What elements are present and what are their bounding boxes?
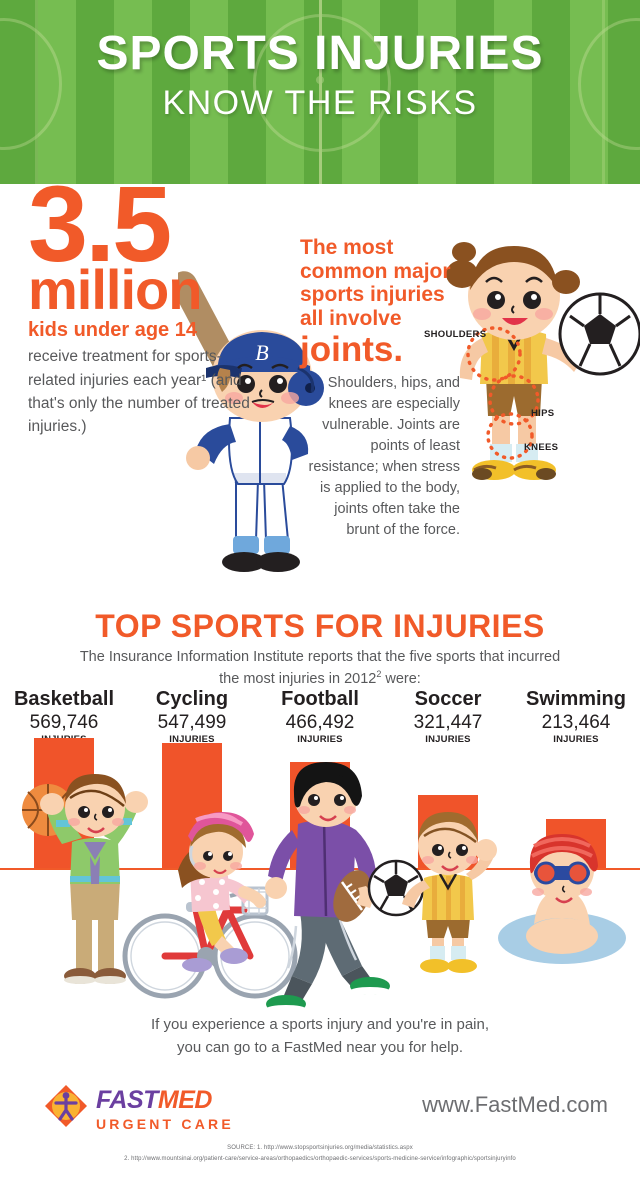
stat-highlight: kids under age 14: [28, 319, 258, 341]
joint-label-hips: HIPS: [531, 408, 554, 419]
stat-number: 3.5: [28, 178, 258, 271]
sport-name: Swimming: [512, 688, 640, 710]
sport-column: Soccer321,447INJURIES: [384, 688, 512, 745]
sources-footnote: SOURCE: 1. http://www.stopsportsinjuries…: [0, 1143, 640, 1166]
basketball-player-illustration: [22, 774, 148, 984]
sport-column: Football466,492INJURIES: [256, 688, 384, 745]
athletes-illustration-row: [0, 760, 640, 1010]
joint-label-knees: KNEES: [524, 442, 558, 453]
sport-name: Football: [256, 688, 384, 710]
section-subtitle-line2b: were:: [381, 671, 421, 687]
sport-name: Soccer: [384, 688, 512, 710]
soccer-girl-illustration: [430, 238, 640, 500]
closing-text: If you experience a sports injury and yo…: [70, 1014, 570, 1059]
sport-column: Swimming213,464INJURIES: [512, 688, 640, 745]
stat-block: 3.5 million kids under age 14 receive tr…: [28, 178, 258, 438]
joints-body-text: Shoulders, hips, and knees are especiall…: [300, 373, 460, 541]
soccer-boy-illustration: [369, 812, 497, 973]
closing-line-2: you can go to a FastMed near you for hel…: [70, 1037, 570, 1060]
logo-wordmark: FASTMED: [96, 1086, 234, 1115]
joint-label-shoulders: SHOULDERS: [424, 329, 486, 340]
website-url[interactable]: www.FastMed.com: [422, 1092, 608, 1118]
fastmed-logo[interactable]: FASTMED URGENT CARE: [44, 1082, 294, 1130]
sports-columns: Basketball569,746INJURIESCycling547,499I…: [0, 688, 640, 745]
header-banner: SPORTS INJURIES KNOW THE RISKS: [0, 0, 640, 184]
page-title: SPORTS INJURIES: [0, 30, 640, 78]
closing-line-1: If you experience a sports injury and yo…: [70, 1014, 570, 1037]
stat-unit: million: [28, 265, 258, 315]
fastmed-logo-mark-icon: [44, 1084, 88, 1128]
joints-headline: The most common major sports injuries al…: [300, 236, 460, 330]
fastmed-logo-text: FASTMED URGENT CARE: [96, 1086, 234, 1132]
cycling-girl-illustration: [125, 812, 295, 996]
swimmer-illustration: [498, 834, 626, 964]
sport-injury-count: 466,492: [256, 711, 384, 735]
page-subtitle: KNOW THE RISKS: [0, 86, 640, 120]
joints-block: The most common major sports injuries al…: [300, 236, 460, 541]
logo-tagline: URGENT CARE: [96, 1116, 234, 1132]
stat-body-text: receive treatment for sports-related inj…: [28, 345, 258, 438]
section-title: TOP SPORTS FOR INJURIES: [0, 608, 640, 645]
title-group: SPORTS INJURIES KNOW THE RISKS: [0, 30, 640, 120]
sport-injury-count: 569,746: [0, 711, 128, 735]
sport-injury-count: 547,499: [128, 711, 256, 735]
sport-injury-count: 213,464: [512, 711, 640, 735]
logo-fast-text: FAST: [96, 1086, 158, 1114]
sport-column: Basketball569,746INJURIES: [0, 688, 128, 745]
source-line-1: SOURCE: 1. http://www.stopsportsinjuries…: [0, 1143, 640, 1154]
source-line-2: 2. http://www.mountsinai.org/patient-car…: [0, 1154, 640, 1165]
sport-column: Cycling547,499INJURIES: [128, 688, 256, 745]
infographic-page: SPORTS INJURIES KNOW THE RISKS B: [0, 0, 640, 1184]
logo-med-text: MED: [158, 1086, 212, 1114]
sport-name: Cycling: [128, 688, 256, 710]
section-subtitle: The Insurance Information Institute repo…: [70, 647, 570, 690]
section-subtitle-line1: The Insurance Information Institute repo…: [80, 649, 476, 665]
sport-injury-count: 321,447: [384, 711, 512, 735]
sport-name: Basketball: [0, 688, 128, 710]
